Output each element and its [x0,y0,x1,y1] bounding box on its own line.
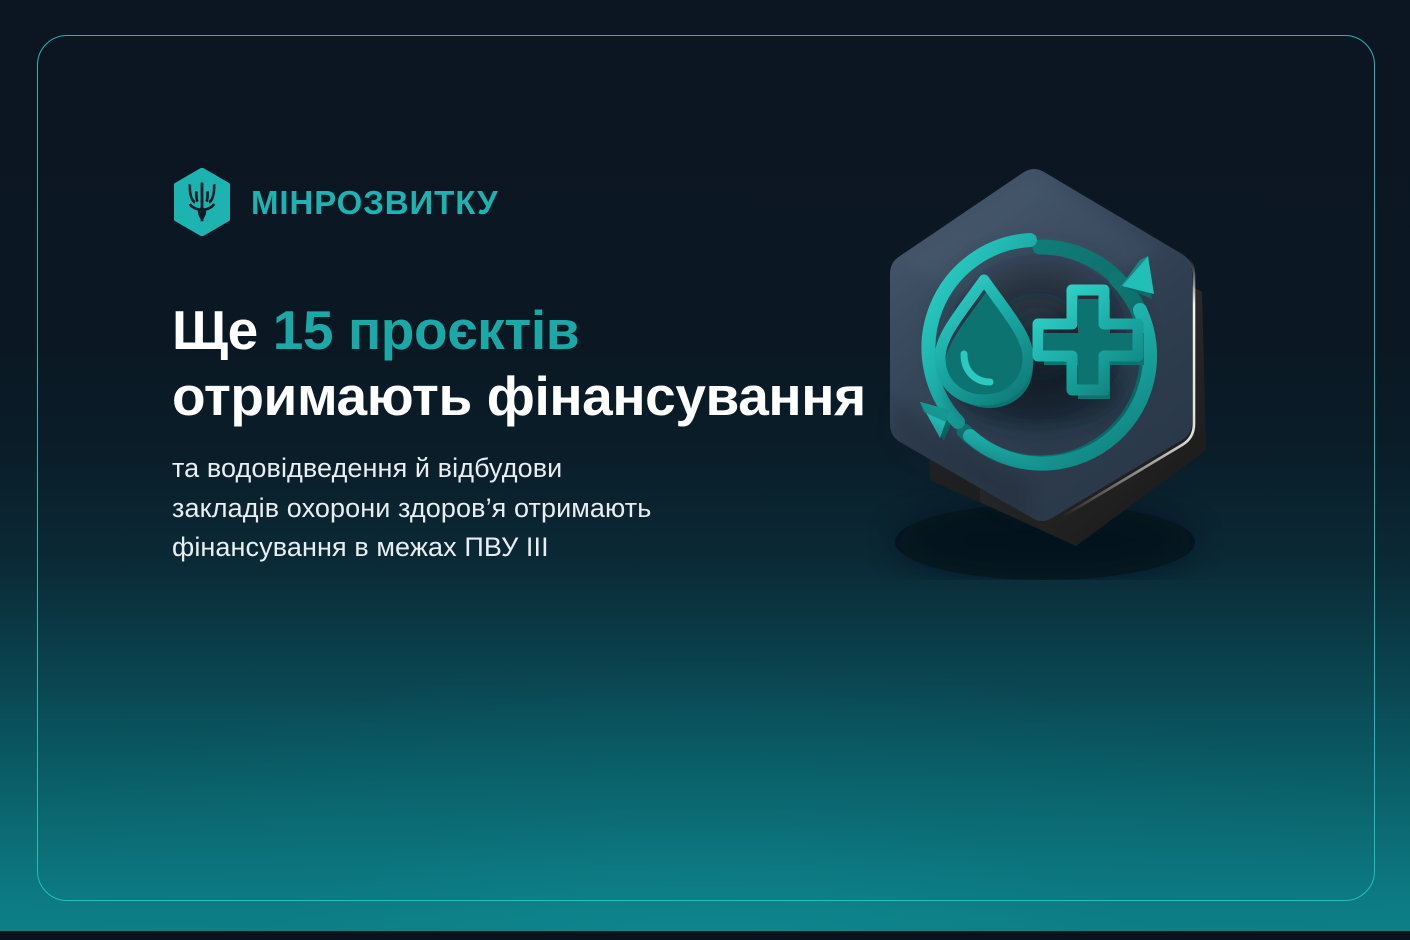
brand-wordmark: МІНРОЗВИТКУ [251,186,499,219]
poster-canvas: МІНРОЗВИТКУ Ще 15 проєктів отримають фін… [0,0,1410,940]
subtitle-line-3: фінансування в межах ПВУ III [172,528,832,568]
hexagon-3d-badge [830,150,1250,580]
page-subtitle: та водовідведення й відбудови закладів о… [172,449,832,568]
subtitle-line-2: закладів охорони здоров’я отримають [172,489,832,529]
ukraine-trident-hexagon-icon [172,168,232,236]
subtitle-line-1: та водовідведення й відбудови [172,449,832,489]
brand-logo: МІНРОЗВИТКУ [172,168,499,236]
background-bottom-strip [0,931,1410,940]
headline-line-1-prefix: Ще [172,299,273,361]
headline-accent-count: 15 проєктів [273,299,579,361]
headline-line-2: отримають фінансування [172,365,866,427]
page-title: Ще 15 проєктів отримають фінансування [172,297,872,429]
